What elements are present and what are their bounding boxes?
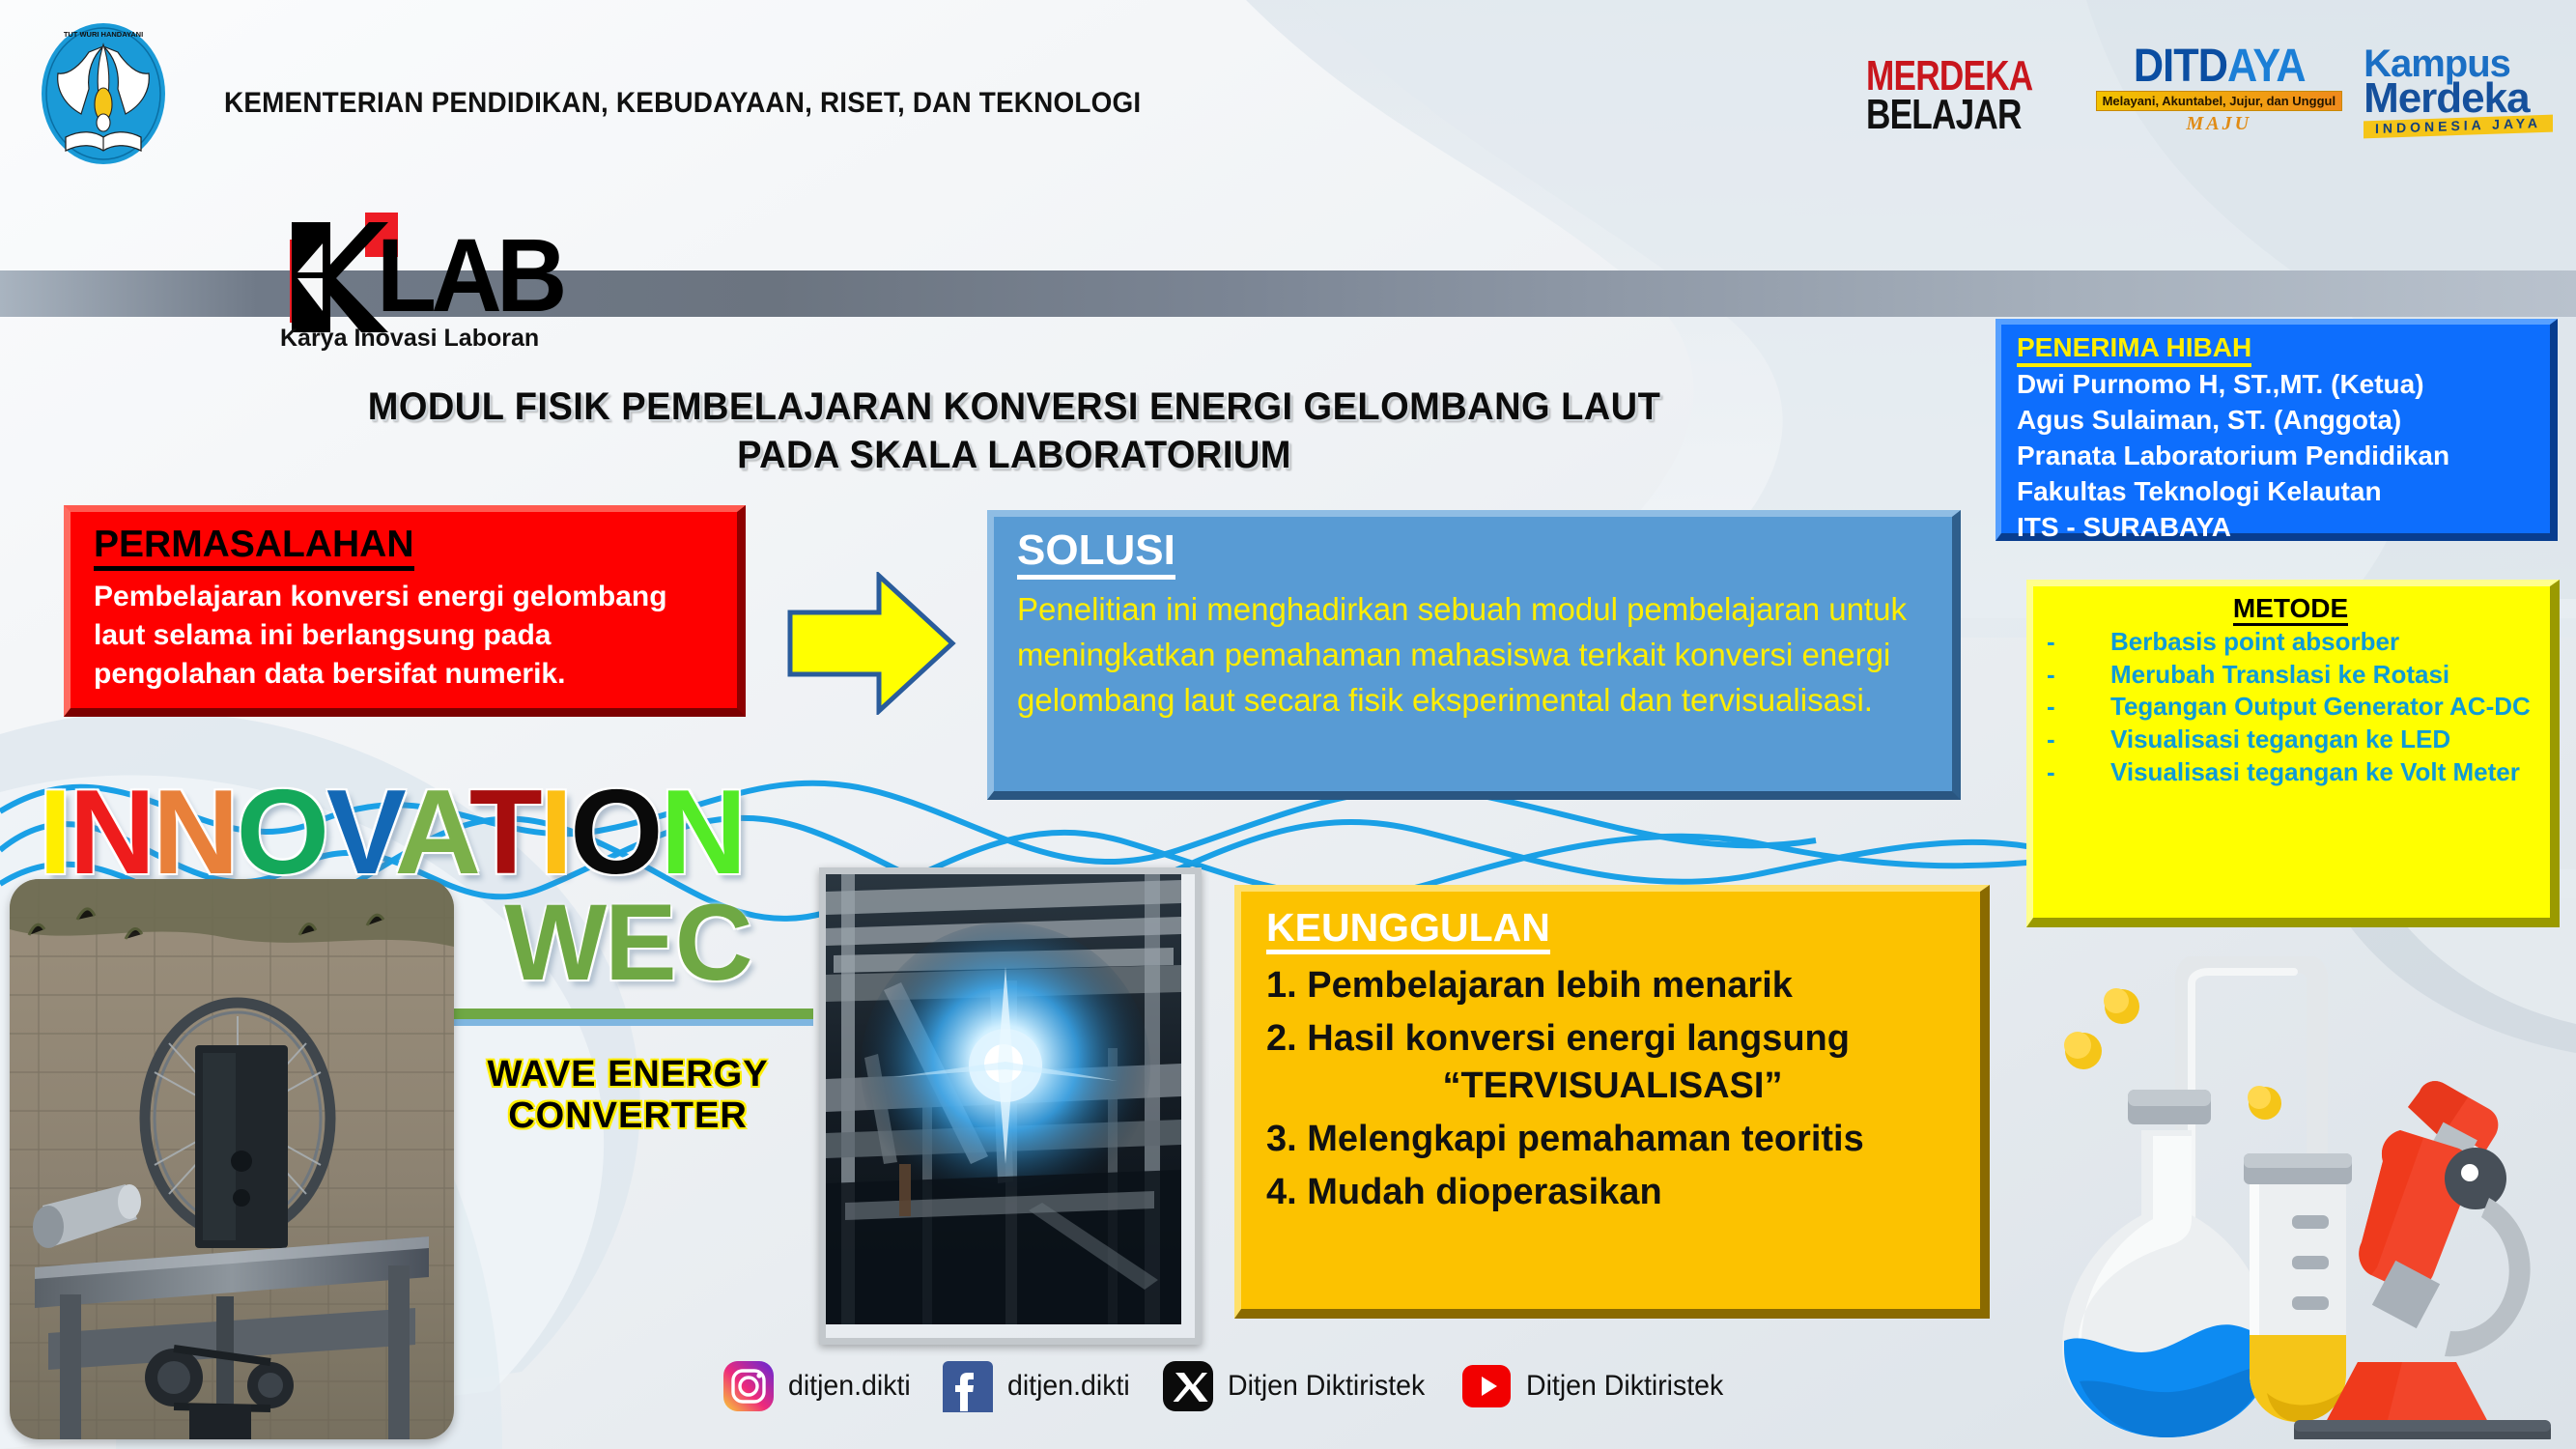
- keunggulan-item: 1. Pembelajaran lebih menarik: [1266, 963, 1959, 1008]
- solusi-heading: SOLUSI: [1017, 528, 1175, 580]
- poster-canvas: TUT WURI HANDAYANI KEMENTERIAN PENDIDIKA…: [0, 0, 2576, 1449]
- led-test-photo-image: [826, 874, 1181, 1324]
- metode-item-text: Berbasis point absorber: [2110, 626, 2534, 659]
- ditdaya-part1: DITD: [2133, 41, 2226, 92]
- svg-text:TUT WURI HANDAYANI: TUT WURI HANDAYANI: [64, 30, 143, 39]
- penerima-hibah-line: Dwi Purnomo H, ST.,MT. (Ketua): [2017, 367, 2536, 403]
- keunggulan-item: “TERVISUALISASI”: [1266, 1064, 1959, 1108]
- social-item-instagram[interactable]: ditjen.dikti: [722, 1360, 942, 1412]
- ditdaya-part2: AYA: [2227, 41, 2306, 92]
- metode-item-text: Merubah Translasi ke Rotasi: [2110, 659, 2534, 692]
- innovation-letter: T: [469, 766, 540, 899]
- ministry-name: KEMENTERIAN PENDIDIKAN, KEBUDAYAAN, RISE…: [224, 87, 1141, 120]
- social-label-instagram: ditjen.dikti: [788, 1370, 911, 1403]
- instagram-icon[interactable]: [722, 1360, 775, 1412]
- penerima-hibah-heading: PENERIMA HIBAH: [2017, 333, 2251, 367]
- kemdikbud-logo-icon: TUT WURI HANDAYANI: [39, 21, 169, 166]
- facebook-icon[interactable]: [942, 1360, 994, 1412]
- permasalahan-panel: PERMASALAHAN Pembelajaran konversi energ…: [64, 505, 746, 717]
- ditdaya-logo: DITDAYA Melayani, Akuntabel, Jujur, dan …: [2096, 44, 2343, 135]
- keunggulan-item: 4. Mudah dioperasikan: [1266, 1170, 1959, 1214]
- page-title-line1: MODUL FISIK PEMBELAJARAN KONVERSI ENERGI…: [180, 383, 1850, 431]
- metode-heading: METODE: [2047, 594, 2534, 624]
- penerima-hibah-line: Pranata Laboratorium Pendidikan: [2017, 439, 2536, 474]
- metode-item-text: Visualisasi tegangan ke LED: [2110, 724, 2534, 756]
- keunggulan-item: 2. Hasil konversi energi langsung: [1266, 1016, 1959, 1061]
- page-title: MODUL FISIK PEMBELAJARAN KONVERSI ENERGI…: [180, 383, 1850, 480]
- metode-bullet-marker: -: [2047, 691, 2110, 724]
- keunggulan-heading: KEUNGGULAN: [1266, 907, 1550, 954]
- social-media-bar: ditjen.dikti ditjen.dikti Ditjen Diktiri…: [722, 1360, 1759, 1412]
- solusi-face: SOLUSI Penelitian ini menghadirkan sebua…: [987, 510, 1961, 800]
- metode-list: -Berbasis point absorber -Merubah Transl…: [2047, 626, 2534, 789]
- lab-equipment-illustration: [1987, 956, 2566, 1439]
- social-label-x: Ditjen Diktiristek: [1228, 1370, 1425, 1403]
- kilab-logo: LAB Karya Inovasi Laboran: [276, 201, 566, 355]
- keunggulan-panel: KEUNGGULAN 1. Pembelajaran lebih menarik…: [1234, 885, 1990, 1319]
- social-label-facebook: ditjen.dikti: [1007, 1370, 1130, 1403]
- metode-bullet-marker: -: [2047, 659, 2110, 692]
- metode-item: -Merubah Translasi ke Rotasi: [2047, 659, 2534, 692]
- program-logos: MERDEKA BELAJAR DITDAYA Melayani, Akunta…: [1866, 44, 2553, 135]
- wec-subtitle-line2: CONVERTER: [425, 1095, 831, 1137]
- wec-prototype-photo-image: [10, 879, 454, 1439]
- youtube-icon[interactable]: [1460, 1360, 1513, 1412]
- wec-subtitle-line1: WAVE ENERGY: [425, 1054, 831, 1095]
- wec-block: WEC WAVE ENERGY CONVERTER: [425, 889, 831, 1136]
- keunggulan-item: 3. Melengkapi pemahaman teoritis: [1266, 1117, 1959, 1161]
- page-title-line2: PADA SKALA LABORATORIUM: [180, 431, 1850, 479]
- kilab-wordmark: LAB: [377, 214, 562, 335]
- metode-bullet-marker: -: [2047, 626, 2110, 659]
- wec-subtitle: WAVE ENERGY CONVERTER: [425, 1054, 831, 1136]
- led-test-photo: [819, 867, 1202, 1345]
- solusi-body: Penelitian ini menghadirkan sebuah modul…: [1017, 587, 1931, 724]
- kilab-tagline: Karya Inovasi Laboran: [280, 325, 539, 353]
- innovation-letter: I: [540, 766, 570, 899]
- social-item-youtube[interactable]: Ditjen Diktiristek: [1460, 1360, 1759, 1412]
- social-item-facebook[interactable]: ditjen.dikti: [942, 1360, 1161, 1412]
- permasalahan-heading: PERMASALAHAN: [94, 526, 414, 571]
- penerima-hibah-panel: PENERIMA HIBAH Dwi Purnomo H, ST.,MT. (K…: [1996, 319, 2558, 541]
- permasalahan-body: Pembelajaran konversi energi gelombang l…: [94, 578, 716, 694]
- ditdaya-tagline: Melayani, Akuntabel, Jujur, dan Unggul: [2096, 91, 2343, 111]
- merdeka-belajar-logo: MERDEKA BELAJAR: [1866, 57, 2074, 135]
- social-label-youtube: Ditjen Diktiristek: [1526, 1370, 1723, 1403]
- innovation-letter: O: [570, 766, 660, 899]
- penerima-hibah-face: PENERIMA HIBAH Dwi Purnomo H, ST.,MT. (K…: [1996, 319, 2558, 541]
- metode-heading-text: METODE: [2233, 593, 2348, 626]
- kilab-k-mark-icon: [276, 218, 388, 332]
- ditdaya-wordmark: DITDAYA: [2133, 44, 2305, 89]
- innovation-letter: N: [661, 766, 745, 899]
- metode-panel: METODE -Berbasis point absorber -Merubah…: [2026, 580, 2560, 927]
- ditdaya-maju: MAJU: [2187, 113, 2252, 135]
- metode-bullet-marker: -: [2047, 756, 2110, 789]
- metode-item-text: Tegangan Output Generator AC-DC: [2110, 691, 2534, 724]
- wec-prototype-photo: [10, 879, 454, 1439]
- innovation-wordmark: INNOVATION: [39, 773, 811, 889]
- metode-item: -Visualisasi tegangan ke LED: [2047, 724, 2534, 756]
- poster-header: TUT WURI HANDAYANI KEMENTERIAN PENDIDIKA…: [0, 0, 2576, 184]
- social-item-x[interactable]: Ditjen Diktiristek: [1162, 1360, 1460, 1412]
- x-twitter-icon[interactable]: [1162, 1360, 1214, 1412]
- kampus-merdeka-line2: Merdeka: [2364, 80, 2530, 116]
- metode-item: -Berbasis point absorber: [2047, 626, 2534, 659]
- keunggulan-face: KEUNGGULAN 1. Pembelajaran lebih menarik…: [1234, 885, 1990, 1319]
- penerima-hibah-line: ITS - SURABAYA: [2017, 510, 2536, 546]
- kampus-merdeka-logo: Kampus Merdeka INDONESIA JAYA: [2364, 47, 2553, 134]
- merdeka-belajar-line1: MERDEKA: [1866, 57, 2032, 96]
- metode-bullet-marker: -: [2047, 724, 2110, 756]
- metode-item-text: Visualisasi tegangan ke Volt Meter: [2110, 756, 2534, 789]
- solusi-panel: SOLUSI Penelitian ini menghadirkan sebua…: [987, 510, 1961, 800]
- metode-item: -Tegangan Output Generator AC-DC: [2047, 691, 2534, 724]
- wec-wordmark: WEC: [425, 889, 831, 997]
- wec-underline-rule: [442, 1009, 813, 1019]
- merdeka-belajar-line2: BELAJAR: [1866, 96, 2032, 134]
- metode-face: METODE -Berbasis point absorber -Merubah…: [2026, 580, 2560, 927]
- penerima-hibah-line: Agus Sulaiman, ST. (Anggota): [2017, 403, 2536, 439]
- right-arrow-icon: [784, 572, 958, 715]
- permasalahan-face: PERMASALAHAN Pembelajaran konversi energ…: [64, 505, 746, 717]
- penerima-hibah-line: Fakultas Teknologi Kelautan: [2017, 474, 2536, 510]
- metode-item: -Visualisasi tegangan ke Volt Meter: [2047, 756, 2534, 789]
